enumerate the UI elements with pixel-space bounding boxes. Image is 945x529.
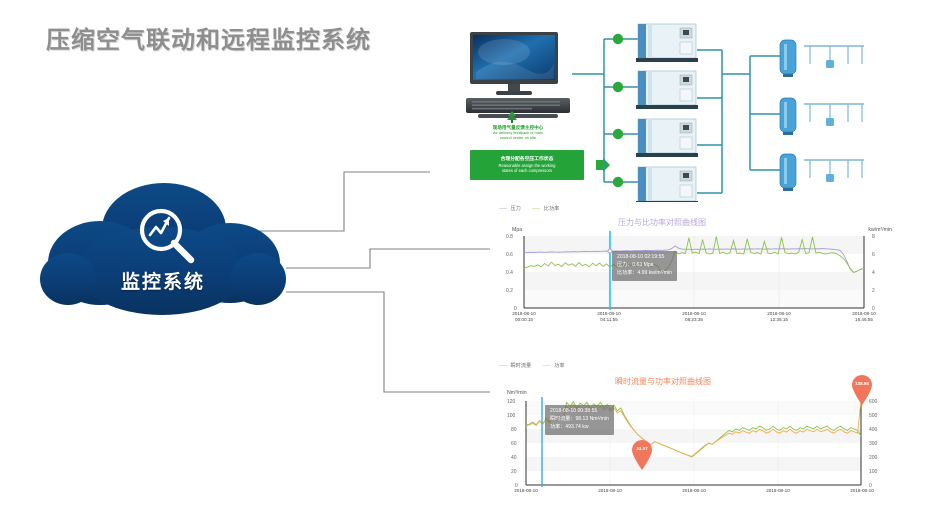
- xtick-time: 08:23:35: [672, 317, 716, 323]
- xtick-date: 2018-08-10: [504, 488, 548, 494]
- chart1-xtick: 2018-08-10 00:00:15: [502, 311, 546, 323]
- system-diagram: 现场用气量反馈主控中心 Air delivery feedback of mai…: [432, 22, 932, 202]
- cloud-label: 监控系统: [38, 267, 288, 294]
- chart2-marker-max[interactable]: 138.55: [851, 375, 873, 405]
- chart2-xtick: 2018-08-10: [672, 488, 716, 494]
- monitoring-cloud[interactable]: 监控系统: [38, 175, 288, 325]
- chart2-xtick: 2018-08-10: [504, 488, 548, 494]
- chart-pressure-panel: –◦– 压力 –◦– 比功率 压力与比功率对照曲线图 Mpa kw/m³/min…: [493, 205, 893, 337]
- slide-canvas: 压缩空气联动和远程监控系统: [0, 0, 945, 529]
- tooltip-line-2: 功率：493.74 kw: [550, 424, 609, 432]
- chart-flow-panel: –◦– 瞬时流量 –◦– 功率 瞬时流量与功率对照曲线图 Nm³/min 120…: [493, 362, 893, 512]
- xtick-date: 2018-08-10: [840, 488, 884, 494]
- magnifier-chart-icon: [136, 205, 198, 267]
- xtick-time: 04:11:55: [587, 317, 631, 323]
- chart2-xtick: 2018-08-10: [588, 488, 632, 494]
- chart2-xtick: 2018-08-10: [756, 488, 800, 494]
- chart1-tooltip: 2018-08-10 02:19:55 压力：0.63 Mpa 比功率：4.99…: [612, 251, 677, 281]
- xtick-date: 2018-08-10: [672, 488, 716, 494]
- chart1-xtick: 2018-08-10 12:35:15: [757, 311, 801, 323]
- tooltip-line-2: 比功率：4.99 kw/m³/min: [617, 270, 672, 278]
- map-pin-icon: [851, 375, 873, 405]
- tooltip-timestamp: 2018-08-10 02:19:55: [617, 254, 672, 262]
- marker-value: 138.55: [851, 381, 873, 386]
- piping-schematic: [432, 22, 932, 202]
- xtick-time: 16:46:55: [842, 317, 886, 323]
- tooltip-line-1: 压力：0.63 Mpa: [617, 262, 672, 270]
- chart2-marker-min[interactable]: 33.87: [631, 440, 653, 470]
- chart2-xtick: 2018-08-10: [840, 488, 884, 494]
- tooltip-line-1: 瞬时流量：98.13 Nm³/min: [550, 416, 609, 424]
- xtick-date: 2018-08-10: [588, 488, 632, 494]
- map-pin-icon: [631, 440, 653, 470]
- xtick-time: 12:35:15: [757, 317, 801, 323]
- tooltip-timestamp: 2018-08-10 00:38:55: [550, 408, 609, 416]
- xtick-time: 00:00:15: [502, 317, 546, 323]
- chart1-xtick: 2018-08-10 16:46:55: [842, 311, 886, 323]
- xtick-date: 2018-08-10: [756, 488, 800, 494]
- chart1-xtick: 2018-08-10 04:11:55: [587, 311, 631, 323]
- marker-value: 33.87: [631, 446, 653, 451]
- chart2-tooltip: 2018-08-10 00:38:55 瞬时流量：98.13 Nm³/min 功…: [545, 405, 614, 435]
- chart1-xtick: 2018-08-10 08:23:35: [672, 311, 716, 323]
